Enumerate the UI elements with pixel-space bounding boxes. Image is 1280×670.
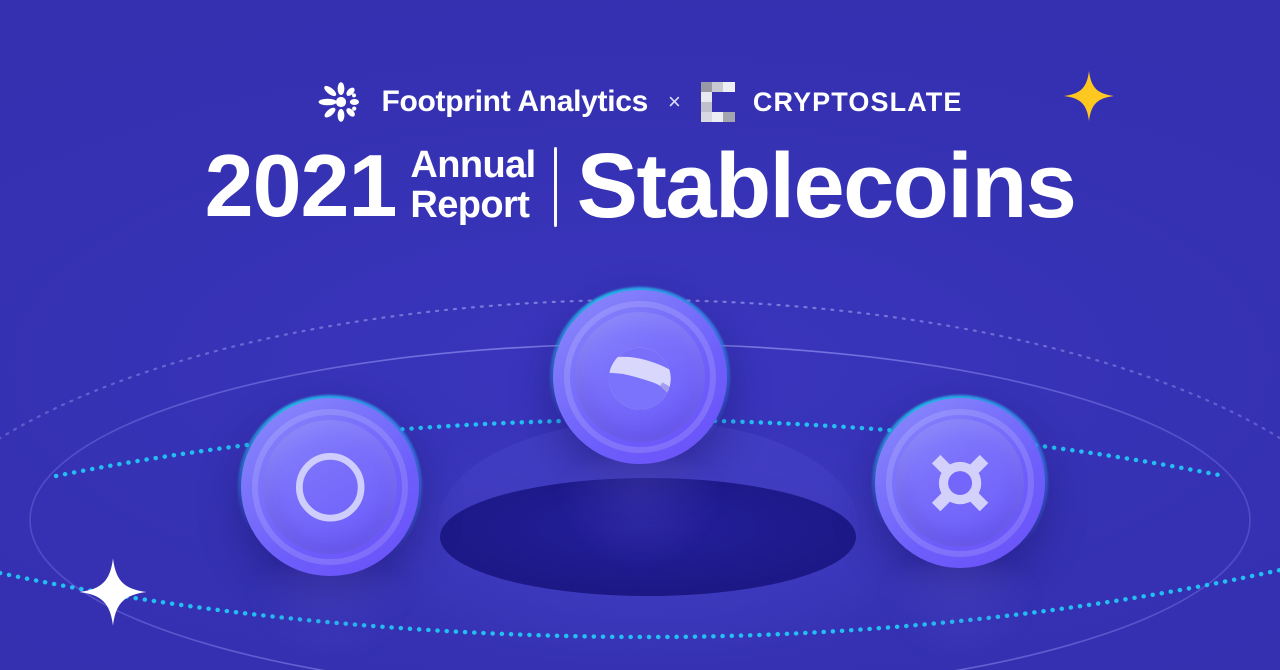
title-annual-report: Annual Report <box>410 146 535 228</box>
coin-face <box>575 312 705 442</box>
coin-reflection-terra <box>556 452 724 564</box>
white-four-point-star-icon <box>78 557 148 627</box>
circle-ring-icon <box>282 439 378 535</box>
title-report: Report <box>410 186 535 226</box>
coin-reflection-frax <box>880 558 1040 654</box>
title-subject: Stablecoins <box>577 143 1076 230</box>
footprint-brand-name: Footprint Analytics <box>381 87 648 117</box>
poster-canvas: Footprint Analytics × CRYPTOSLATE 2021 A… <box>0 0 1280 670</box>
title-year: 2021 <box>205 146 397 227</box>
title-divider <box>554 147 557 227</box>
poster-title: 2021 Annual Report Stablecoins <box>0 143 1280 230</box>
usdc-coin <box>241 398 419 576</box>
coin-face <box>896 419 1024 547</box>
cryptoslate-brand-name: CRYPTOSLATE <box>753 89 963 116</box>
gold-four-point-star-icon <box>1063 70 1115 122</box>
cryptoslate-c-block-icon <box>701 82 735 122</box>
terra-luna-icon <box>593 330 687 424</box>
brand-separator-x: × <box>668 91 681 113</box>
coin-face <box>263 420 397 554</box>
terra-coin <box>553 290 727 464</box>
title-annual: Annual <box>410 146 535 186</box>
footprint-analytics-flower-icon <box>317 78 365 126</box>
frax-x-circle-icon <box>914 437 1006 529</box>
frax-coin <box>875 398 1045 568</box>
